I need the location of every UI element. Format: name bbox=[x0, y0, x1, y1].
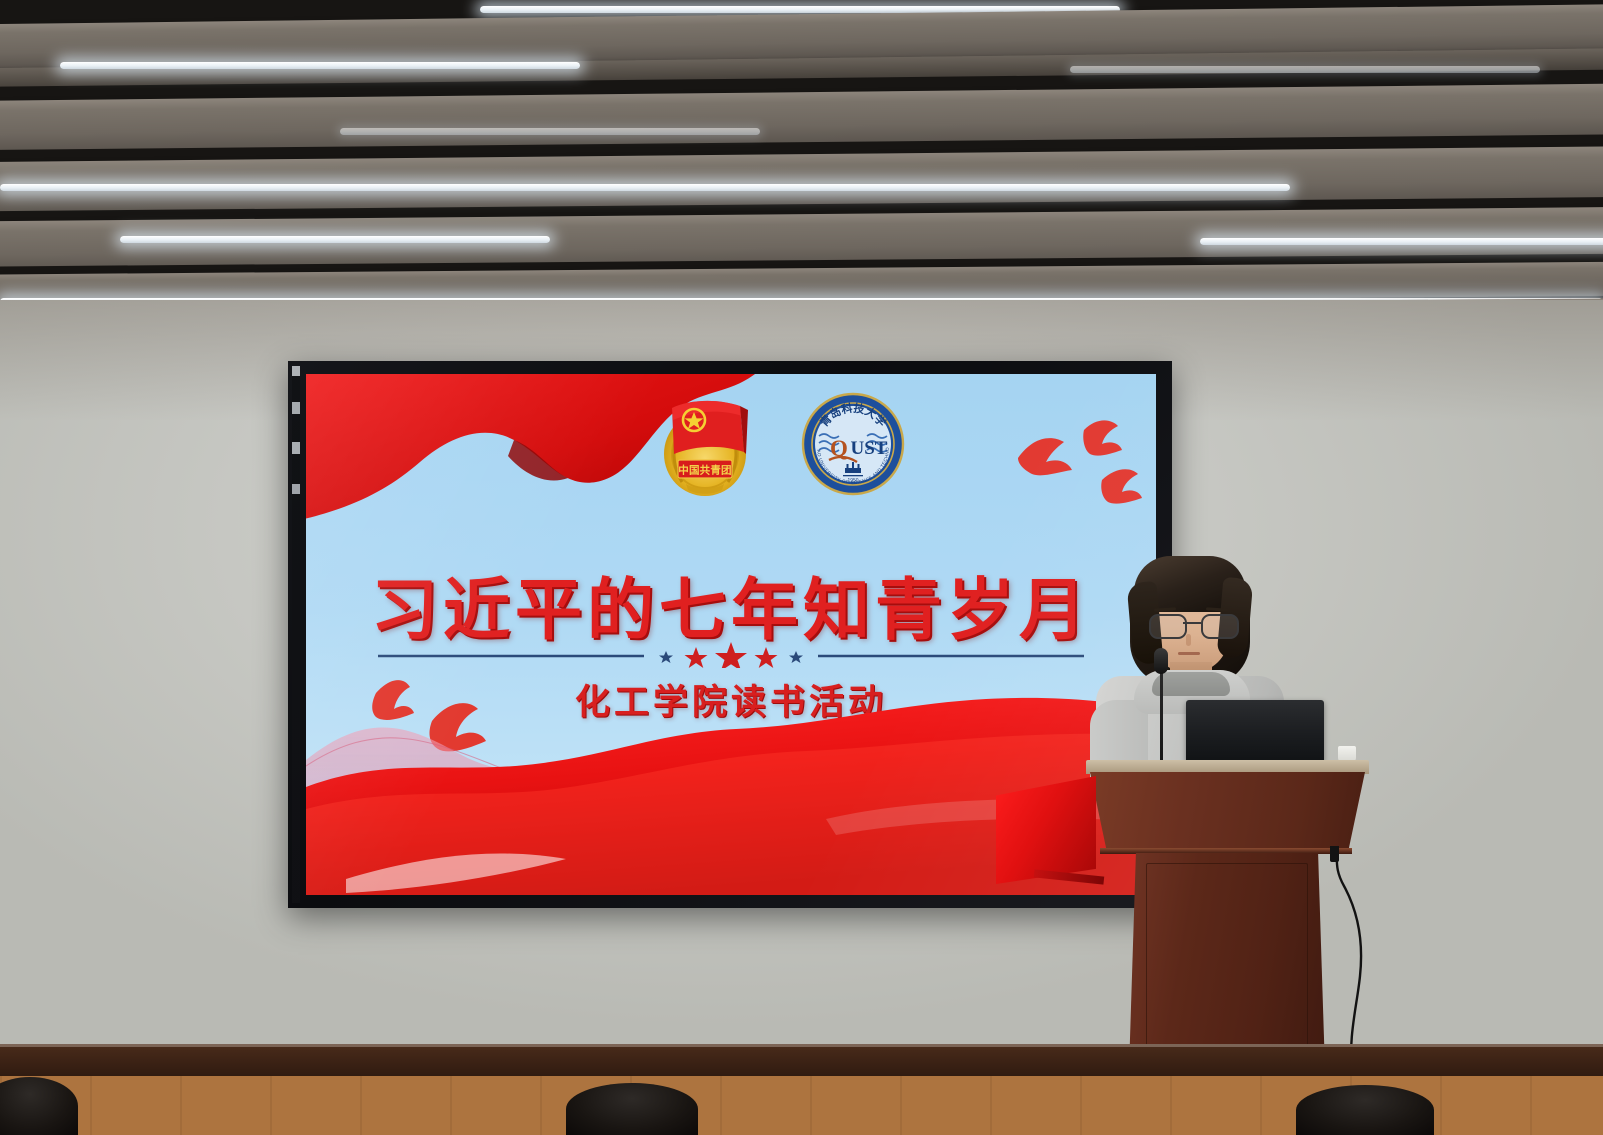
flying-birds-right bbox=[1006, 414, 1156, 509]
communist-youth-league-emblem: 中国共青团 bbox=[656, 394, 754, 499]
slide-title: 习近平的七年知青岁月 bbox=[306, 556, 1156, 653]
audience-head bbox=[1296, 1085, 1434, 1135]
eyeglasses-icon bbox=[1146, 614, 1238, 636]
hood-opening bbox=[1152, 672, 1230, 696]
lectern-top-surface bbox=[1086, 760, 1369, 774]
laptop[interactable] bbox=[1186, 700, 1324, 762]
star-divider bbox=[306, 642, 1156, 668]
svg-text:中国共青团: 中国共青团 bbox=[678, 464, 732, 477]
microphone-stand bbox=[1160, 664, 1163, 764]
nose bbox=[1186, 634, 1191, 646]
screen-bezel-highlight bbox=[292, 366, 300, 903]
lectern-desk bbox=[1090, 772, 1365, 850]
audience-head bbox=[566, 1083, 698, 1135]
slatted-ceiling bbox=[0, 0, 1603, 345]
mouth bbox=[1178, 652, 1200, 655]
svg-text:UST: UST bbox=[851, 438, 888, 459]
qust-university-seal: 青岛科技大学 Q UST 1950 QINGDAO UNIVERSITY OF … bbox=[801, 392, 905, 496]
lecture-hall-photo: 中国共青团 青岛科技大学 Q UST bbox=[0, 0, 1603, 1135]
microphone-icon bbox=[1154, 648, 1168, 674]
stage-riser bbox=[0, 1044, 1603, 1080]
